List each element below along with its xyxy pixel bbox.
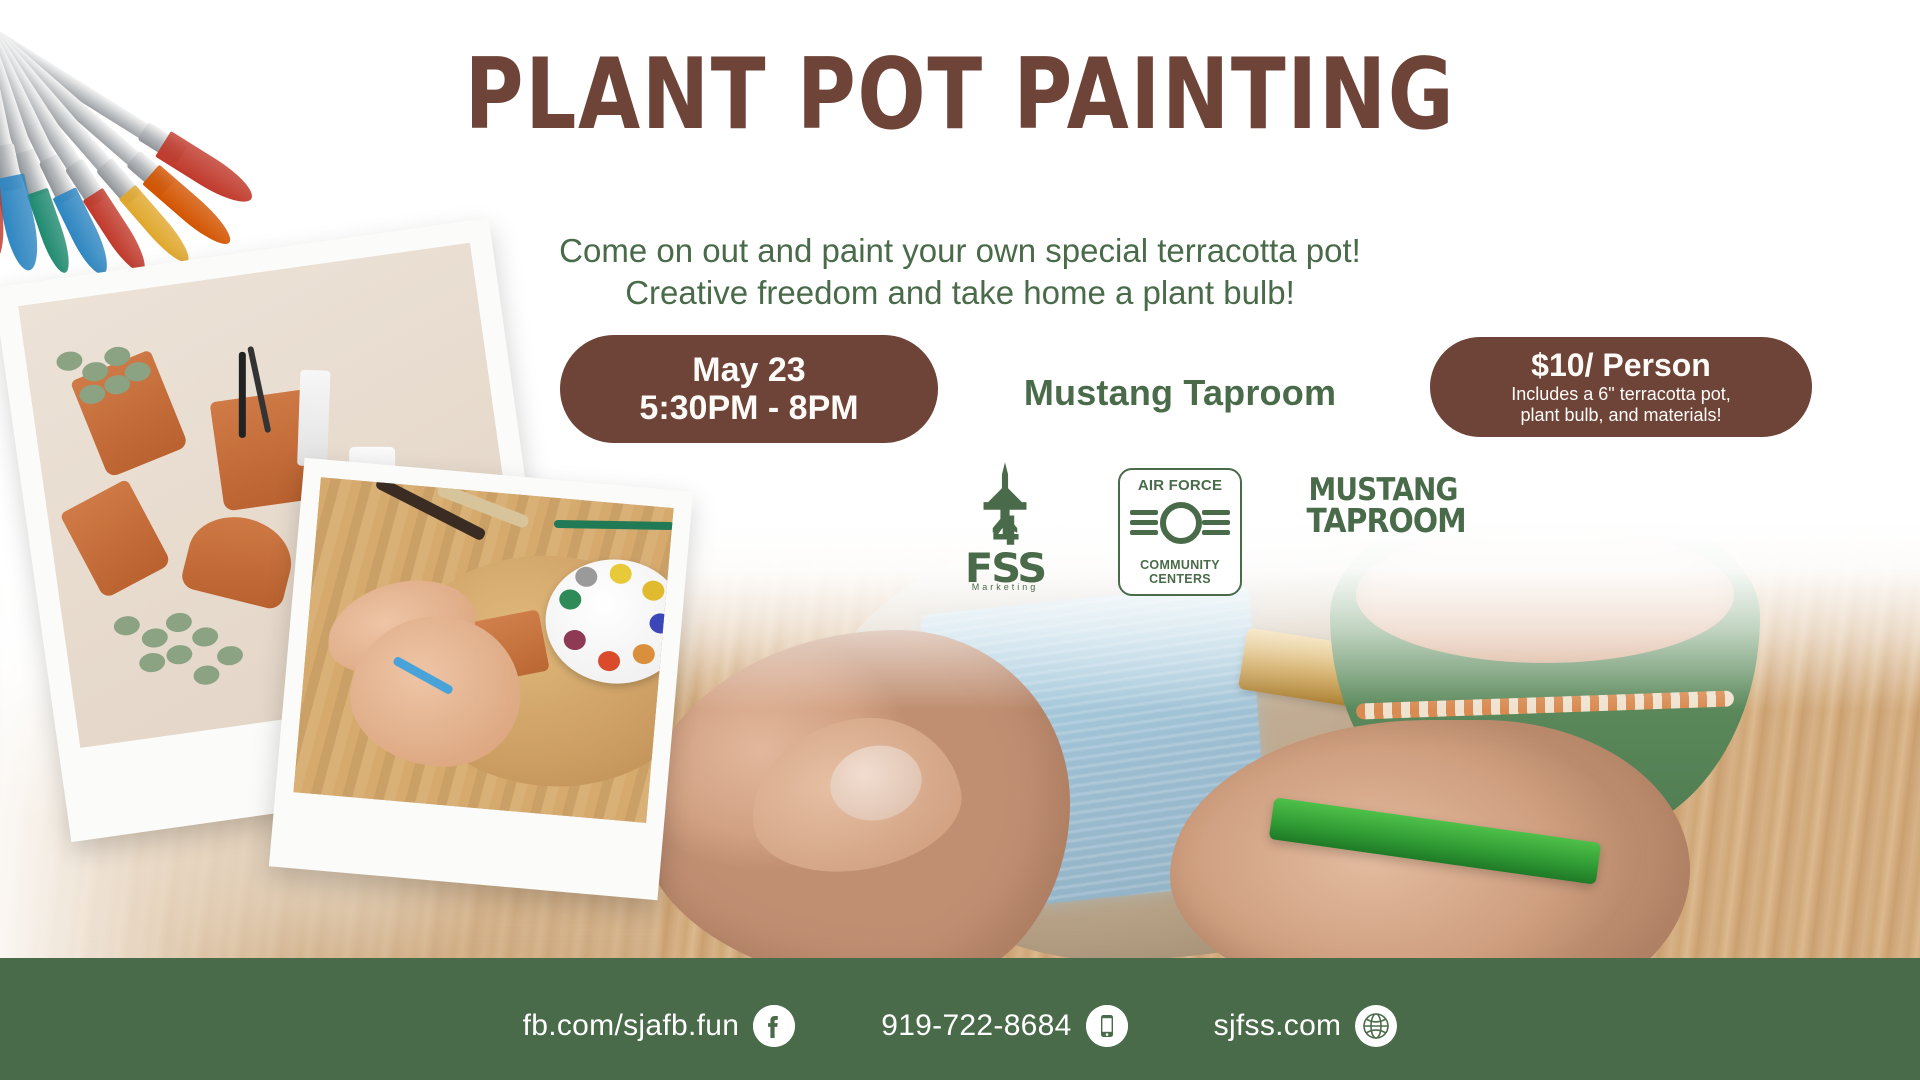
- afcc-bottom-text: COMMUNITY CENTERS: [1140, 558, 1220, 588]
- poster-subtitle: Come on out and paint your own special t…: [0, 230, 1920, 314]
- facebook-icon[interactable]: [753, 1005, 795, 1047]
- mustang-logo-line-2: TAPROOM: [1307, 505, 1460, 536]
- mobile-phone-icon[interactable]: [1086, 1005, 1128, 1047]
- afcc-globe-icon: [1160, 502, 1202, 544]
- carving-tool: [374, 477, 486, 541]
- footer-facebook[interactable]: fb.com/sjafb.fun: [523, 1005, 796, 1047]
- phone-label: 919-722-8684: [881, 1009, 1071, 1043]
- price-badge: $10/ Person Includes a 6" terracotta pot…: [1430, 337, 1812, 437]
- palette-well-yellow: [609, 563, 633, 585]
- afcc-community-text: COMMUNITY: [1140, 558, 1220, 573]
- poster-canvas: PLANT POT PAINTING Come on out and paint…: [0, 0, 1920, 1080]
- palette-well-green: [558, 589, 582, 611]
- venue-name: Mustang Taproom: [960, 372, 1400, 414]
- mustang-taproom-logo: MUSTANG TAPROOM: [1298, 476, 1468, 576]
- footer-website[interactable]: sjfss.com: [1214, 1005, 1398, 1047]
- globe-icon[interactable]: [1355, 1005, 1397, 1047]
- air-force-community-centers-logo: AIR FORCE COMMUNITY CENTERS: [1118, 468, 1242, 596]
- polaroid-child-painting-pot-photo: [269, 458, 693, 900]
- price-amount: $10/ Person: [1531, 348, 1711, 383]
- brush-dark: [239, 352, 246, 438]
- palette-well-grey: [574, 566, 598, 588]
- footer-bar: fb.com/sjafb.fun 919-722-8684 sjfss.com: [0, 972, 1920, 1080]
- palette-well-orange: [632, 643, 656, 665]
- event-time: 5:30PM - 8PM: [639, 389, 858, 427]
- subtitle-line-1: Come on out and paint your own special t…: [0, 230, 1920, 272]
- page-title: PLANT POT PAINTING: [173, 46, 1747, 144]
- date-time-badge: May 23 5:30PM - 8PM: [560, 335, 938, 443]
- fss-logo-text: 4 FSS: [927, 514, 1083, 588]
- paint-tube-small: [297, 370, 330, 467]
- fss-logo-caption: Marketing: [930, 582, 1080, 592]
- 4-fss-marketing-logo: 4 FSS Marketing: [930, 462, 1080, 597]
- polaroid-hands-image: [293, 477, 673, 823]
- website-label: sjfss.com: [1214, 1009, 1342, 1043]
- palette-well-blue: [649, 613, 673, 635]
- green-pot-twine: [1356, 691, 1735, 720]
- afcc-emblem: [1130, 500, 1230, 552]
- sponsor-logos: 4 FSS Marketing AIR FORCE COMMUNITY CENT…: [900, 462, 1480, 602]
- hands-scene: [293, 477, 673, 823]
- facebook-label: fb.com/sjafb.fun: [523, 1009, 740, 1043]
- palette-well-red: [597, 650, 621, 672]
- pot-2: [60, 479, 172, 599]
- price-includes-line-1: Includes a 6" terracotta pot,: [1511, 384, 1731, 405]
- green-pencil: [554, 520, 674, 530]
- pot-4: [179, 507, 300, 612]
- afcc-centers-text: CENTERS: [1140, 572, 1220, 587]
- palette-well-gold: [642, 580, 666, 602]
- subtitle-line-2: Creative freedom and take home a plant b…: [0, 272, 1920, 314]
- footer-phone[interactable]: 919-722-8684: [881, 1005, 1127, 1047]
- event-date: May 23: [692, 351, 805, 389]
- palette-well-maroon: [563, 629, 587, 651]
- afcc-top-text: AIR FORCE: [1138, 477, 1222, 494]
- price-includes-line-2: plant bulb, and materials!: [1520, 405, 1721, 426]
